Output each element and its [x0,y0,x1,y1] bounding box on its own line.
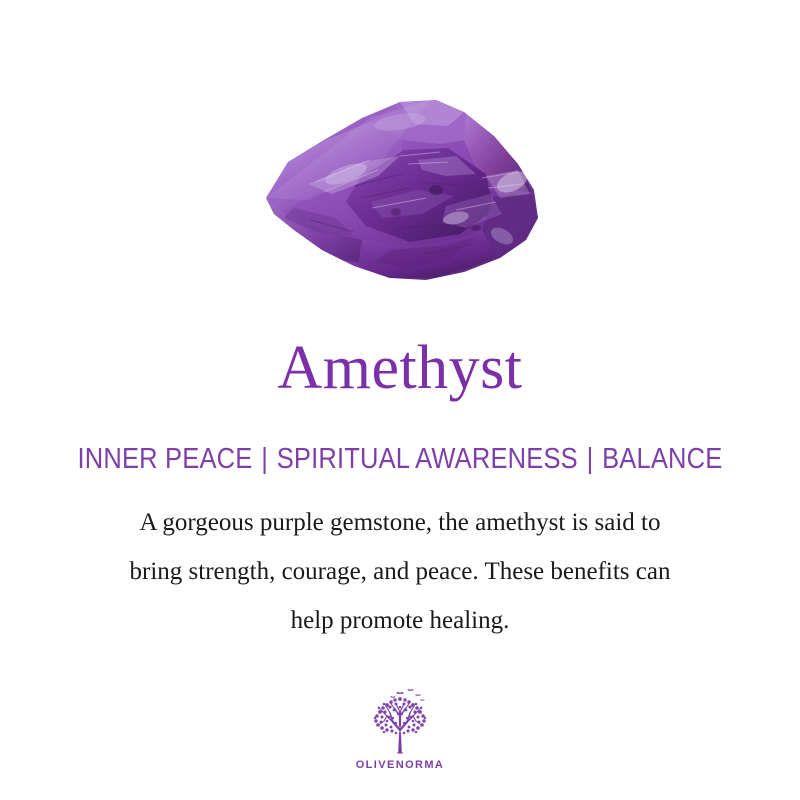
keyword-spiritual-awareness: SPIRITUAL AWARENESS [277,443,578,475]
keyword-list: INNER PEACE|SPIRITUAL AWARENESS|BALANCE [48,444,752,476]
brand-logo: OLIVENORMA [0,686,800,771]
keyword-balance: BALANCE [602,443,722,475]
hero-image-container [0,70,800,300]
keyword-separator: | [252,444,276,476]
amethyst-raw-crystal-icon [250,78,550,293]
keyword-inner-peace: INNER PEACE [78,443,253,475]
description-text: A gorgeous purple gemstone, the amethyst… [40,498,760,645]
description-line: bring strength, courage, and peace. Thes… [40,547,760,596]
amethyst-product-card: Amethyst INNER PEACE|SPIRITUAL AWARENESS… [0,0,800,800]
description-line: help promote healing. [40,596,760,645]
page-title: Amethyst [0,336,800,401]
keyword-separator: | [578,444,602,476]
brand-name: OLIVENORMA [356,759,445,771]
description-line: A gorgeous purple gemstone, the amethyst… [40,498,760,547]
tree-of-life-icon [363,686,437,756]
